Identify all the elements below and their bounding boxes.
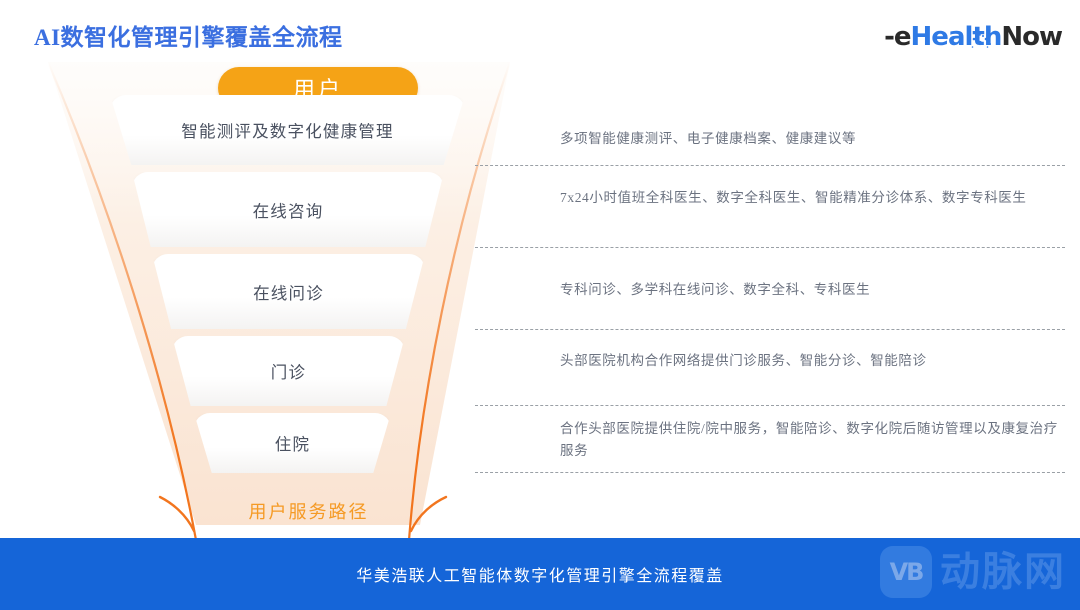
watermark-dongmaiwang: VB 动脉网 <box>880 546 1066 598</box>
detail-text-2: 7x24小时值班全科医生、数字全科医生、智能精准分诊体系、数字专科医生 <box>560 187 1060 209</box>
detail-divider-2 <box>475 247 1065 248</box>
watermark-vb-badge: VB <box>880 546 932 598</box>
funnel-stage-4-label: 门诊 <box>271 359 306 383</box>
funnel-stage-5-label: 住院 <box>275 431 310 455</box>
watermark-label: 动脉网 <box>940 552 1066 592</box>
detail-text-4: 头部医院机构合作网络提供门诊服务、智能分诊、智能陪诊 <box>560 350 1060 372</box>
detail-divider-4 <box>475 405 1065 406</box>
funnel-stage-2-label: 在线咨询 <box>253 198 324 222</box>
detail-text-5: 合作头部医院提供住院/院中服务，智能陪诊、数字化院后随访管理以及康复治疗服务 <box>560 418 1060 462</box>
slide-canvas: AI数智化管理引擎覆盖全流程 -eHealthNow <box>0 0 1080 610</box>
detail-text-1: 多项智能健康测评、电子健康档案、健康建议等 <box>560 128 1060 150</box>
funnel-stage-3-label: 在线问诊 <box>253 280 324 304</box>
footer-bar: 华美浩联人工智能体数字化管理引擎全流程覆盖 VB 动脉网 <box>0 538 1080 610</box>
funnel-stage-1-label: 智能测评及数字化健康管理 <box>181 118 393 142</box>
detail-text-3: 专科问诊、多学科在线问诊、数字全科、专科医生 <box>560 279 1060 301</box>
detail-divider-5 <box>475 472 1065 473</box>
detail-divider-3 <box>475 329 1065 330</box>
detail-divider-1 <box>475 165 1065 166</box>
detail-column: 多项智能健康测评、电子健康档案、健康建议等 7x24小时值班全科医生、数字全科医… <box>0 0 1080 545</box>
